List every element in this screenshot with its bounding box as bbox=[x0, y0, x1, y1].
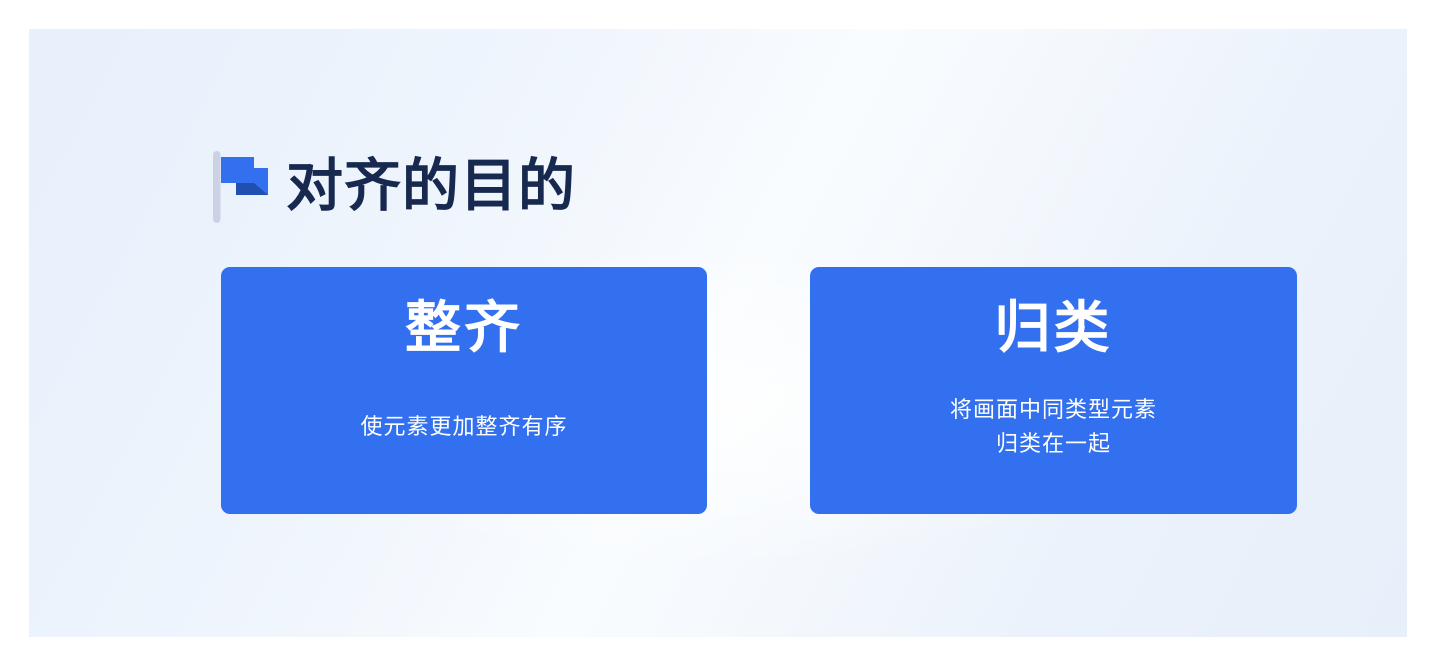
page-title: 对齐的目的 bbox=[286, 158, 576, 215]
screenshot-canvas: 对齐的目的 整齐 使元素更加整齐有序 归类 将画面中同类型元素 归类在一起 bbox=[0, 0, 1436, 662]
card-grouping-description: 将画面中同类型元素 归类在一起 bbox=[810, 393, 1297, 461]
card-tidy-description: 使元素更加整齐有序 bbox=[221, 410, 707, 444]
card-group: 整齐 使元素更加整齐有序 归类 将画面中同类型元素 归类在一起 bbox=[192, 267, 1297, 514]
card-grouping[interactable]: 归类 将画面中同类型元素 归类在一起 bbox=[810, 267, 1297, 514]
card-grouping-title: 归类 bbox=[810, 299, 1297, 358]
card-tidy-title: 整齐 bbox=[221, 299, 707, 358]
flag-icon bbox=[210, 149, 272, 225]
slide-heading: 对齐的目的 bbox=[210, 147, 576, 225]
card-tidy[interactable]: 整齐 使元素更加整齐有序 bbox=[221, 267, 707, 514]
slide-panel: 对齐的目的 整齐 使元素更加整齐有序 归类 将画面中同类型元素 归类在一起 bbox=[29, 29, 1407, 637]
